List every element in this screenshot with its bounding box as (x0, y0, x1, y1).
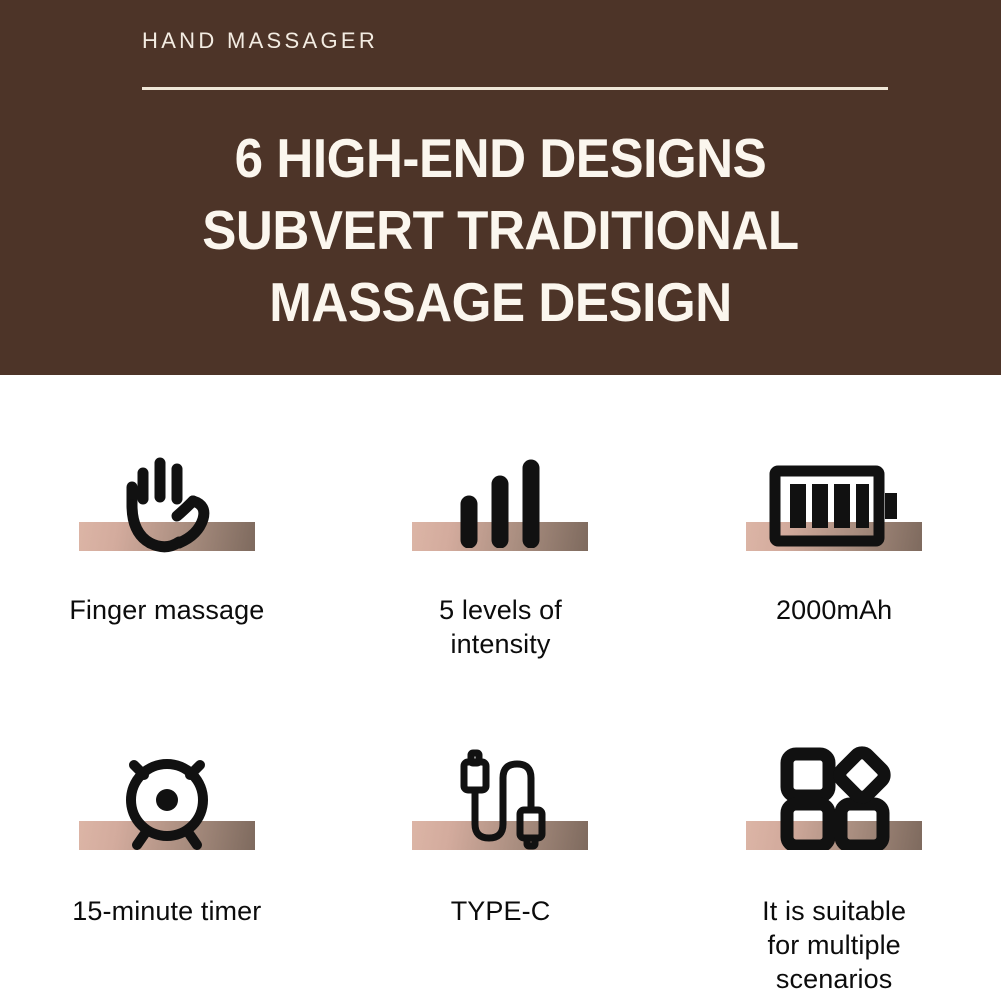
feature-cell-finger-massage: Finger massage (0, 375, 334, 688)
feature-cell-type-c: TYPE-C (334, 688, 668, 1001)
alarm-clock-icon (112, 748, 222, 852)
feature-grid: Finger massage 5 levels of intensity (0, 375, 1001, 1001)
header-divider-rule (142, 87, 888, 90)
feature-label: TYPE-C (451, 894, 551, 928)
icon-stage (746, 710, 922, 870)
product-category-eyebrow: HAND MASSAGER (142, 28, 378, 54)
headline-line-2: SUBVERT TRADITIONAL (35, 194, 966, 266)
header-band: HAND MASSAGER 6 HIGH-END DESIGNS SUBVERT… (0, 0, 1001, 375)
feature-label: Finger massage (69, 593, 264, 627)
usb-type-c-cable-icon (448, 748, 552, 852)
feature-label-line-2: for multiple (768, 930, 901, 960)
feature-label: 5 levels of intensity (439, 593, 562, 661)
icon-stage (746, 411, 922, 571)
feature-label-line-1: It is suitable (762, 896, 906, 926)
feature-label: It is suitable for multiple scenarios (762, 894, 906, 996)
feature-label-line-3: scenarios (776, 964, 892, 994)
feature-cell-intensity-levels: 5 levels of intensity (334, 375, 668, 688)
icon-stage (79, 710, 255, 870)
feature-label: 15-minute timer (72, 894, 261, 928)
shapes-grid-icon (777, 746, 891, 850)
icon-stage (412, 411, 588, 571)
feature-label: 2000mAh (776, 593, 892, 627)
icon-stage (79, 411, 255, 571)
icon-stage (412, 710, 588, 870)
feature-cell-timer: 15-minute timer (0, 688, 334, 1001)
headline-line-3: MASSAGE DESIGN (35, 266, 966, 338)
signal-bars-icon (445, 458, 555, 548)
feature-label-line-1: 5 levels of (439, 595, 562, 625)
page-headline: 6 HIGH-END DESIGNS SUBVERT TRADITIONAL M… (35, 122, 966, 338)
feature-label-line-2: intensity (451, 629, 551, 659)
battery-icon (769, 463, 899, 549)
feature-cell-battery-capacity: 2000mAh (667, 375, 1001, 688)
feature-cell-scenarios: It is suitable for multiple scenarios (667, 688, 1001, 1001)
hand-icon (107, 443, 227, 553)
headline-line-1: 6 HIGH-END DESIGNS (35, 122, 966, 194)
